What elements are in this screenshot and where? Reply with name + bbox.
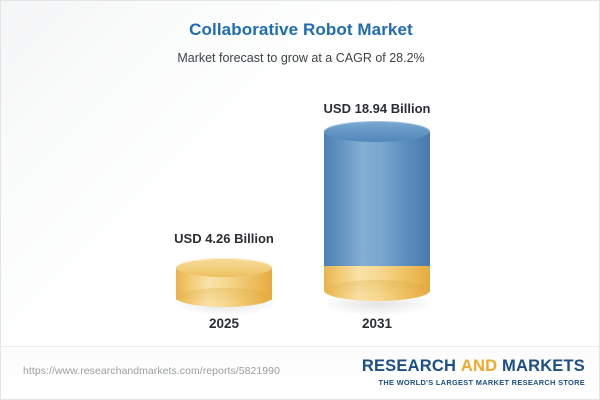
bar-category-label-2025: 2025 [151, 315, 297, 333]
cylinder-body-blue-2031 [324, 131, 430, 266]
bar-value-label-2025: USD 4.26 Billion [151, 231, 297, 247]
chart-plot-area: USD 4.26 Billion 2025 USD 18.94 Billion [1, 1, 600, 349]
cylinder-bottom-shade-2031 [324, 280, 430, 301]
logo-wordmark: RESEARCH AND MARKETS [362, 357, 585, 376]
logo-word-and: AND [461, 357, 497, 375]
cylinder-2025 [176, 258, 272, 308]
cylinder-2031 [324, 121, 430, 309]
bar-group-2031[interactable]: USD 18.94 Billion 2031 [304, 1, 450, 349]
footer-bar: https://www.researchandmarkets.com/repor… [1, 346, 600, 399]
cylinder-top-2031 [324, 121, 430, 142]
logo-word-markets: MARKETS [502, 357, 585, 375]
cylinder-bottom-shade-2025 [176, 288, 272, 307]
logo-tagline: THE WORLD'S LARGEST MARKET RESEARCH STOR… [362, 377, 585, 388]
brand-logo[interactable]: RESEARCH AND MARKETS THE WORLD'S LARGEST… [362, 357, 585, 388]
bar-value-label-2031: USD 18.94 Billion [304, 101, 450, 117]
report-url[interactable]: https://www.researchandmarkets.com/repor… [23, 365, 280, 377]
logo-word-research: RESEARCH [362, 357, 456, 375]
bar-group-2025[interactable]: USD 4.26 Billion 2025 [151, 1, 297, 349]
infographic-card: Collaborative Robot Market Market foreca… [0, 0, 600, 400]
bar-category-label-2031: 2031 [304, 315, 450, 333]
cylinder-top-2025 [176, 258, 272, 277]
